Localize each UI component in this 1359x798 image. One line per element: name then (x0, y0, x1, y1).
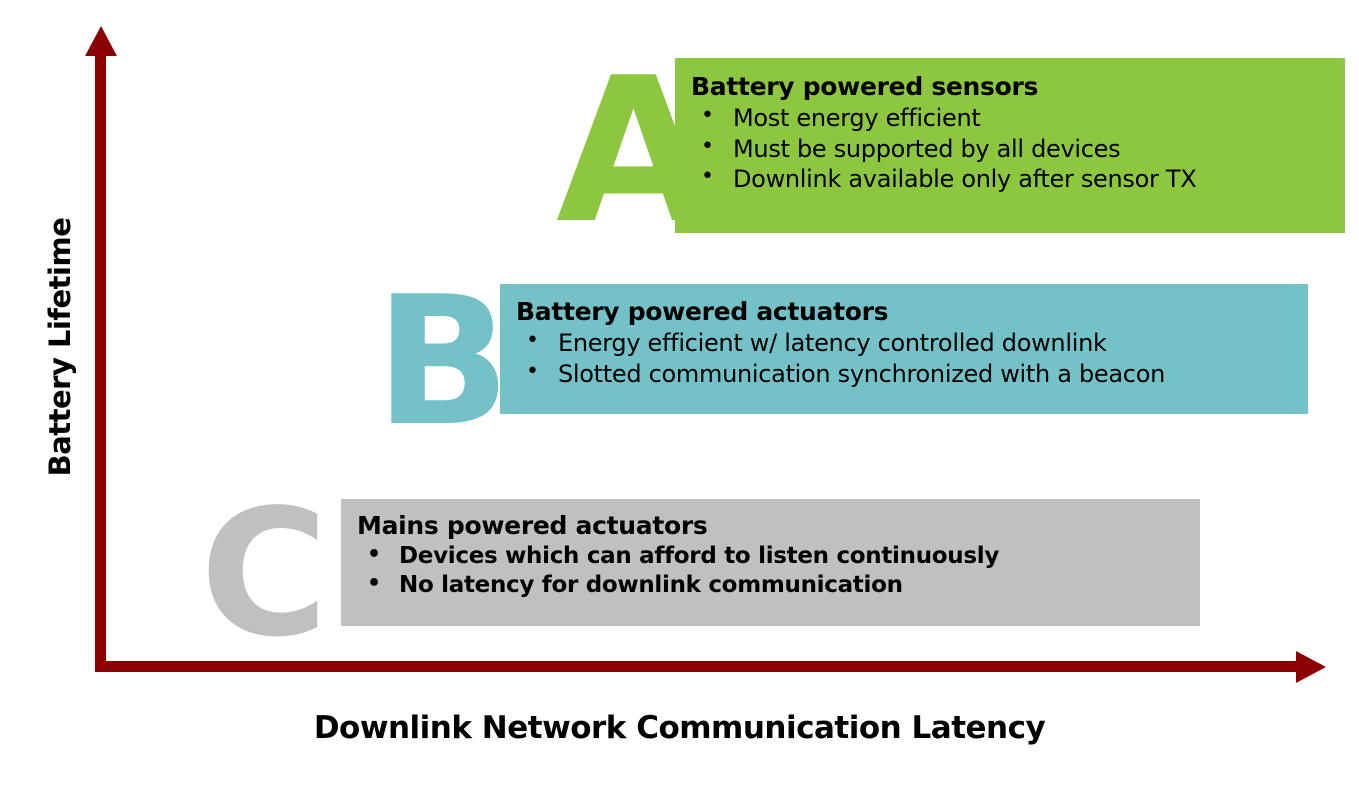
tier-title-a: Battery powered sensors (691, 72, 1329, 101)
tier-title-c: Mains powered actuators (357, 511, 1184, 540)
y-axis-line (95, 52, 106, 672)
x-axis-arrow-icon (1296, 651, 1326, 683)
list-item: Downlink available only after sensor TX (691, 164, 1329, 195)
list-item: Must be supported by all devices (691, 134, 1329, 165)
tier-panel-c: Mains powered actuators Devices which ca… (341, 499, 1200, 626)
x-axis-title: Downlink Network Communication Latency (0, 710, 1359, 746)
y-axis-arrow-icon (85, 26, 117, 56)
tier-panel-b: Battery powered actuators Energy efficie… (500, 284, 1308, 414)
tier-bullets-c: Devices which can afford to listen conti… (357, 542, 1184, 601)
tier-bullets-b: Energy efficient w/ latency controlled d… (516, 328, 1292, 389)
y-axis-title: Battery Lifetime (43, 217, 77, 477)
tier-bullets-a: Most energy efficient Must be supported … (691, 103, 1329, 195)
list-item: No latency for downlink communication (357, 571, 1184, 600)
list-item: Devices which can afford to listen conti… (357, 542, 1184, 571)
tier-title-b: Battery powered actuators (516, 297, 1292, 326)
tier-letter-b: B (375, 273, 511, 451)
list-item: Slotted communication synchronized with … (516, 359, 1292, 390)
tier-letter-c: C (200, 487, 328, 662)
list-item: Most energy efficient (691, 103, 1329, 134)
tier-panel-a: Battery powered sensors Most energy effi… (675, 58, 1345, 233)
device-class-diagram: Battery Lifetime Downlink Network Commun… (0, 0, 1359, 798)
list-item: Energy efficient w/ latency controlled d… (516, 328, 1292, 359)
